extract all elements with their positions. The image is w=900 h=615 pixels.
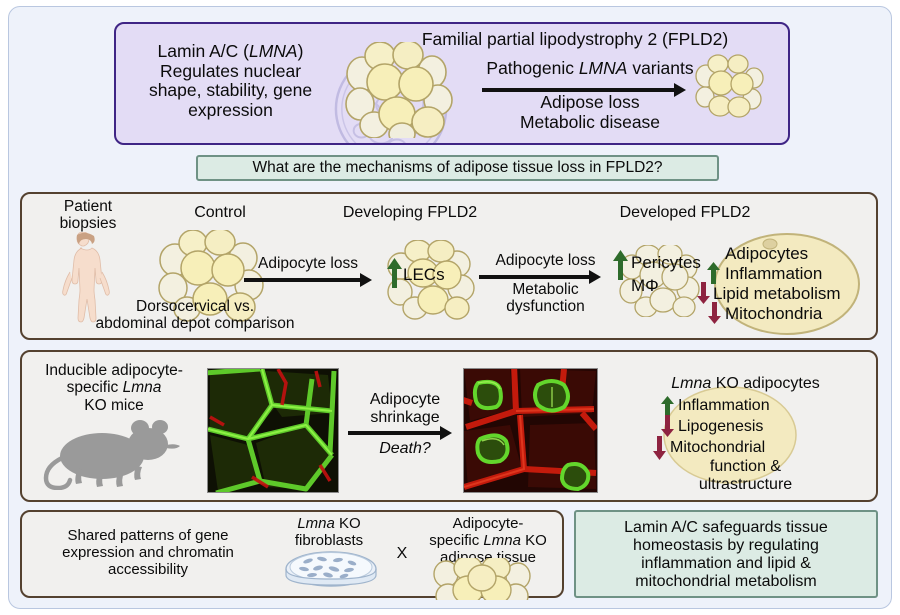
up-arrow-lecs-icon [386, 258, 403, 288]
lamin-desc-3: expression [188, 100, 273, 120]
down-arrow-lipid-metabolism-icon [696, 282, 711, 304]
micrograph-control [207, 368, 339, 493]
mouse-model-title: Inducible adipocyte- specific Lmna KO mi… [24, 362, 204, 414]
ko-outcome-lipogenesis: Lipogenesis [678, 418, 828, 436]
patient-biopsies-label: Patient biopsies [38, 198, 138, 233]
lamin-title: Lamin A/C (LMNA) [158, 41, 304, 61]
outcome-inflammation: Inflammation [725, 264, 860, 283]
question-text: What are the mechanisms of adipose tissu… [196, 159, 719, 176]
ko-outcome-inflammation: Inflammation [678, 397, 828, 415]
pathogenic-variants-label: Pathogenic LMNA variants [470, 59, 710, 79]
lecs-label: LECs [403, 265, 473, 284]
biopsy-arrow-1-head [360, 273, 372, 287]
adipocyte-loss-label-1: Adipocyte loss [243, 255, 373, 272]
adipose-loss-label: Adipose loss Metabolic disease [470, 93, 710, 132]
up-arrow-inflammation-icon [706, 262, 721, 284]
down-arrow-ko-mitochondrial-icon [652, 436, 667, 460]
shared-patterns-text: Shared patterns of gene expression and c… [32, 528, 264, 578]
up-arrow-pericytes-icon [612, 250, 629, 280]
biopsy-arrow-2-line [479, 275, 591, 279]
outcome-header-adipocytes: Adipocytes [725, 244, 855, 263]
graphical-abstract: Lamin A/C (LMNA) Regulates nuclear shape… [0, 0, 900, 615]
ko-outcome-function-cont: function & [648, 458, 843, 476]
metabolic-dysfunction-label: Metabolic dysfunction [478, 281, 613, 316]
biopsy-arrow-1-line [244, 278, 362, 282]
adipose-loss-line1: Adipose loss [540, 92, 639, 112]
lamin-desc-1: Regulates nuclear [160, 61, 301, 81]
outcome-mitochondria: Mitochondria [725, 304, 865, 323]
stage-label-control: Control [155, 204, 285, 222]
adipocyte-cluster-tissue-icon [432, 558, 536, 600]
ko-outcome-mitochondrial: Mitochondrial [670, 439, 835, 457]
adipocyte-loss-label-2: Adipocyte loss [478, 252, 613, 269]
death-question-label: Death? [350, 440, 460, 458]
lamin-description: Lamin A/C (LMNA) Regulates nuclear shape… [128, 42, 333, 120]
mouse-icon [40, 418, 190, 490]
mouse-arrow-head [440, 426, 452, 440]
ko-outcomes-header: Lmna KO adipocytes [648, 375, 843, 393]
conclusion-text: Lamin A/C safeguards tissue homeostasis … [582, 519, 870, 591]
depot-comparison-label: Dorsocervical vs. abdominal depot compar… [80, 298, 310, 333]
micrograph-ko [463, 368, 598, 493]
metabolic-disease-line: Metabolic disease [520, 112, 660, 132]
mouse-arrow-line [348, 431, 442, 435]
down-arrow-mitochondria-icon [707, 302, 722, 324]
adipocyte-shrinkage-label: Adipocyte shrinkage [350, 391, 460, 427]
fpld2-title: Familial partial lipodystrophy 2 (FPLD2) [360, 30, 790, 50]
down-arrow-ko-lipogenesis-icon [660, 415, 675, 437]
cross-symbol: X [390, 545, 414, 563]
ko-outcome-ultrastructure-cont: ultrastructure [648, 476, 843, 494]
petri-dish-icon [284, 548, 378, 592]
stage-label-developing: Developing FPLD2 [320, 204, 500, 222]
fibroblasts-label: Lmna KO fibroblasts [274, 516, 384, 550]
lamin-desc-2: shape, stability, gene [149, 80, 312, 100]
adipocyte-cluster-icon [340, 42, 458, 138]
stage-label-developed: Developed FPLD2 [595, 204, 775, 222]
outcome-lipid-metabolism: Lipid metabolism [713, 284, 863, 303]
